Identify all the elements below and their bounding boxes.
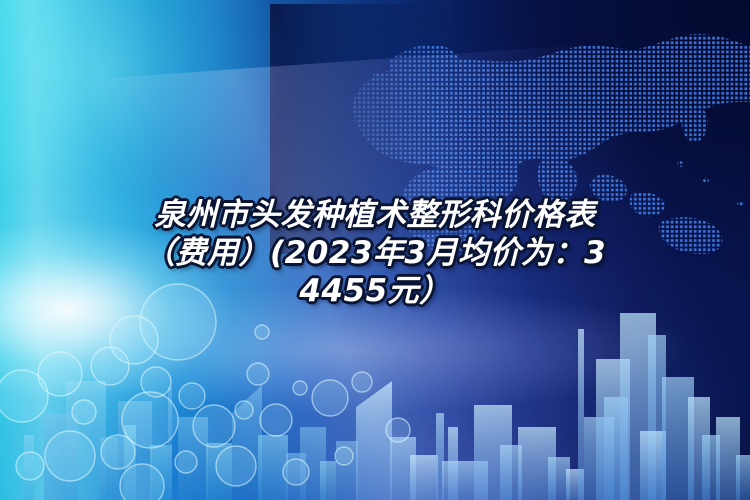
- headline-line-2: （费用）(2023年3月均价为：3: [75, 234, 675, 272]
- promo-banner: 泉州市头发种植术整形科价格表 （费用）(2023年3月均价为：3 4455元）: [0, 0, 750, 500]
- headline-line-3: 4455元）: [75, 272, 675, 310]
- headline-line-1: 泉州市头发种植术整形科价格表: [75, 196, 675, 234]
- banner-headline: 泉州市头发种植术整形科价格表 （费用）(2023年3月均价为：3 4455元）: [75, 196, 675, 310]
